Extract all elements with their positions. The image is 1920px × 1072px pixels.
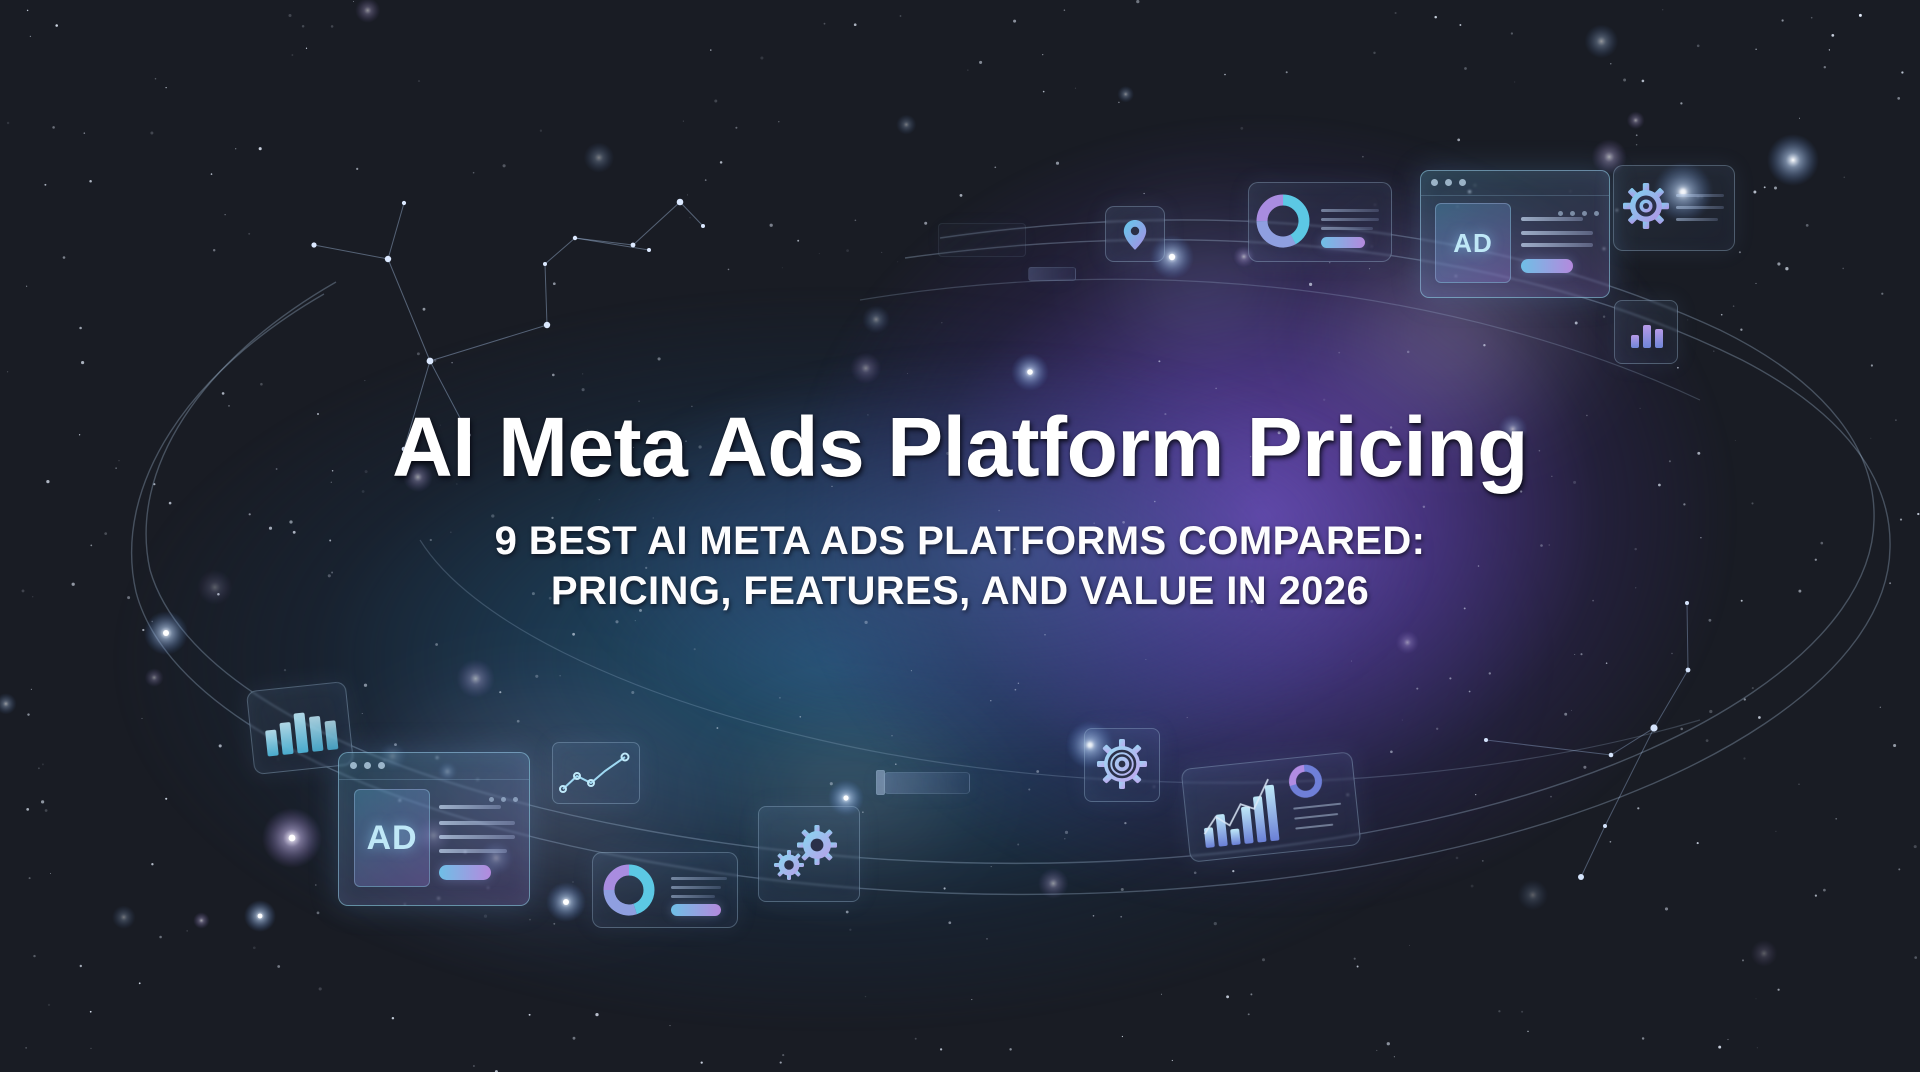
target-gear-card[interactable] — [1084, 728, 1160, 802]
faint-panel — [938, 223, 1026, 257]
target-gear-icon — [1085, 729, 1159, 801]
line-chart-card[interactable] — [552, 742, 640, 804]
window-menu-dots[interactable] — [1558, 211, 1599, 216]
location-pin-card[interactable] — [1105, 206, 1165, 262]
donut-chart-card[interactable] — [1248, 182, 1392, 262]
gear-icon — [1618, 178, 1674, 234]
ad-window-card[interactable]: AD — [1420, 170, 1610, 298]
ad-label: AD — [1453, 228, 1493, 259]
dashboard-chart — [1182, 752, 1361, 861]
hero-text: AI Meta Ads Platform Pricing 9 BEST AI M… — [0, 404, 1920, 617]
faint-panel — [876, 770, 885, 795]
card-action-pill[interactable] — [1321, 237, 1365, 248]
window-controls[interactable] — [1431, 179, 1466, 186]
card-action-pill[interactable] — [1521, 259, 1573, 273]
bar-chart-icon — [1615, 301, 1677, 363]
subtitle-line-1: 9 BEST AI META ADS PLATFORMS COMPARED: — [270, 517, 1650, 567]
page-title: AI Meta Ads Platform Pricing — [0, 404, 1920, 491]
bar-chart-icon-card[interactable] — [1614, 300, 1678, 364]
settings-card[interactable] — [1613, 165, 1735, 251]
donut-chart-icon — [1289, 765, 1323, 799]
hero-banner: AD — [0, 0, 1920, 1072]
gears-icon — [759, 807, 859, 901]
window-controls[interactable] — [350, 762, 385, 769]
donut-chart-card[interactable] — [592, 852, 738, 928]
ad-window-card[interactable]: AD — [338, 752, 530, 906]
ad-placeholder: AD — [354, 789, 430, 887]
card-action-pill[interactable] — [671, 904, 721, 916]
faint-panel — [1028, 267, 1076, 281]
faint-panel — [884, 772, 970, 794]
analytics-dashboard-card[interactable] — [1181, 751, 1362, 862]
ad-placeholder: AD — [1435, 203, 1511, 283]
line-chart-icon — [553, 743, 639, 803]
bar-series — [1200, 785, 1279, 848]
location-pin-icon — [1106, 207, 1164, 261]
window-menu-dots[interactable] — [489, 797, 518, 802]
page-subtitle: 9 BEST AI META ADS PLATFORMS COMPARED: P… — [270, 517, 1650, 616]
subtitle-line-2: PRICING, FEATURES, AND VALUE IN 2026 — [270, 567, 1650, 617]
dual-gears-card[interactable] — [758, 806, 860, 902]
ad-label: AD — [366, 819, 417, 858]
donut-chart-icon — [1249, 183, 1391, 261]
card-action-pill[interactable] — [439, 865, 491, 880]
